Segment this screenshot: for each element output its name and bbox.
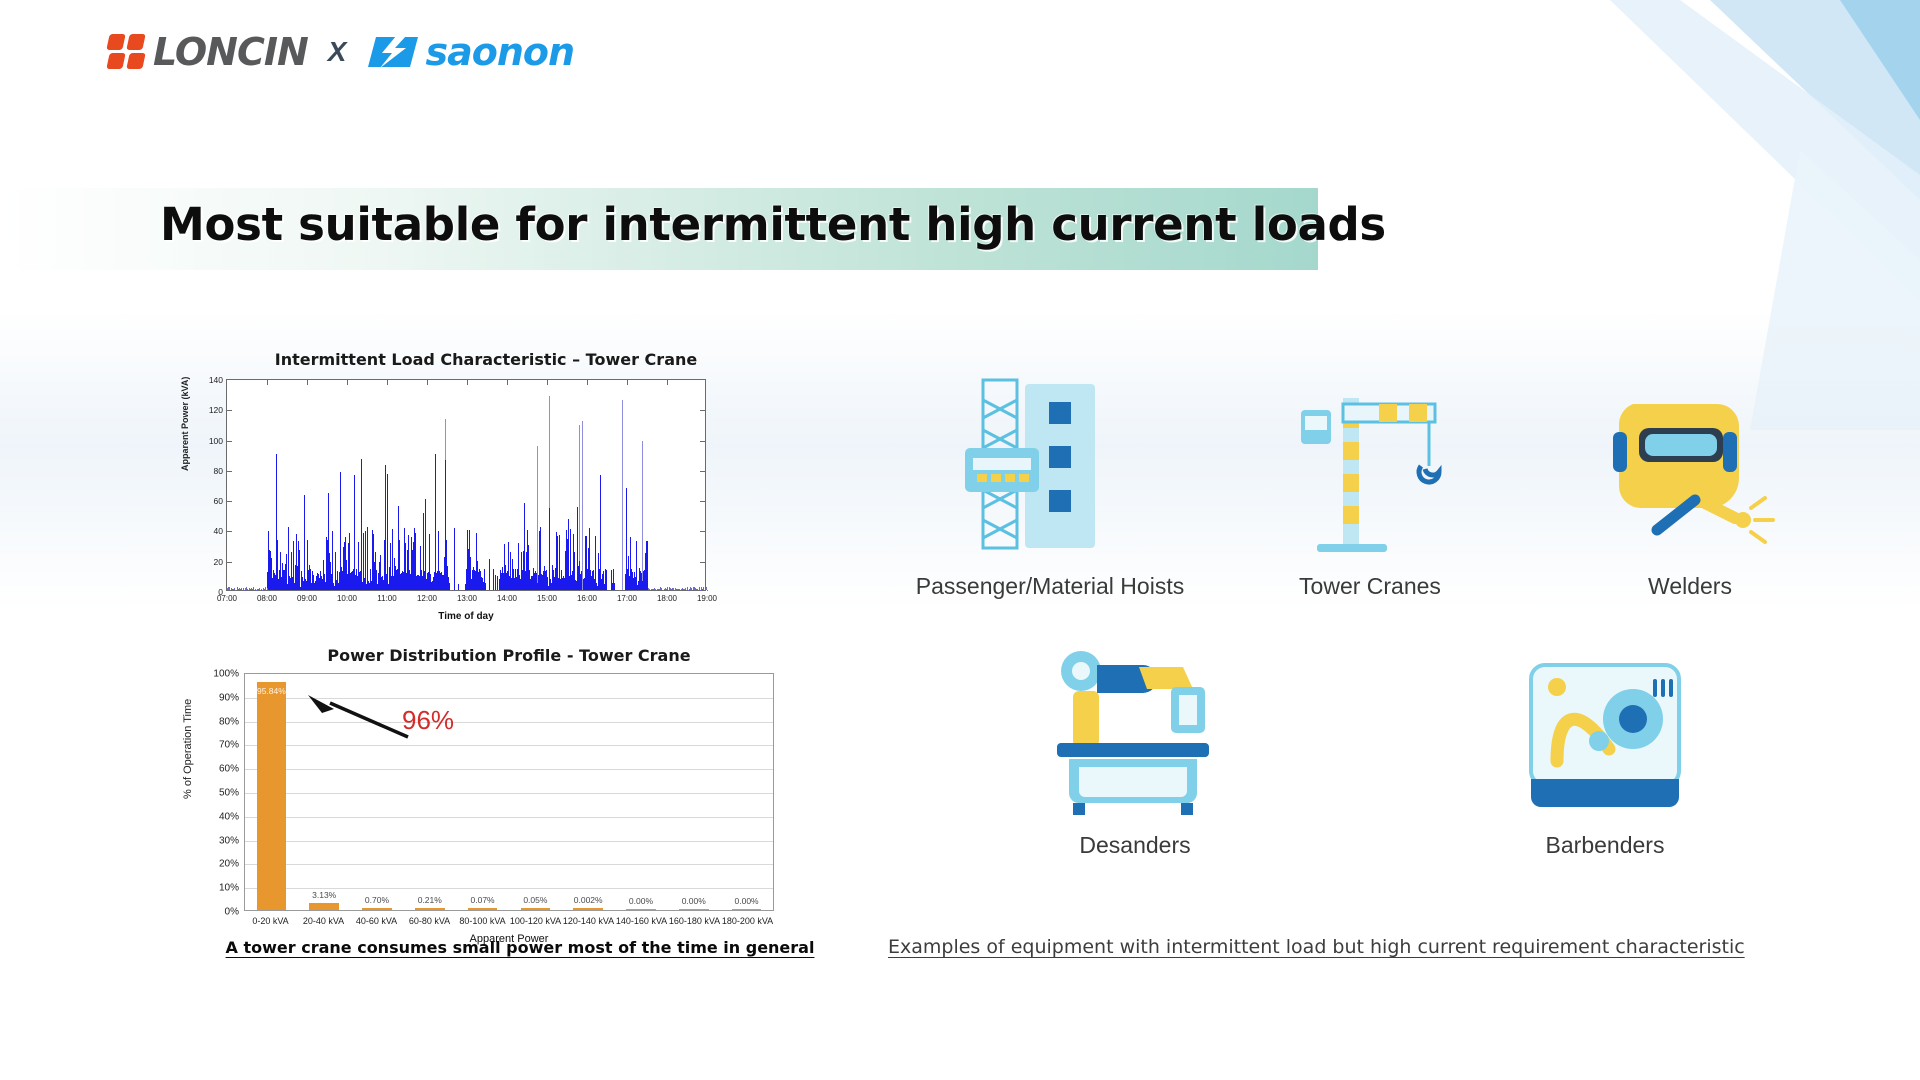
bar-chart-xtick: 180-200 kVA	[721, 916, 774, 927]
tick-mark	[227, 441, 232, 442]
bar-chart-ytick: 70%	[219, 740, 239, 751]
load-spike	[485, 583, 486, 590]
tick-mark	[627, 380, 628, 385]
equipment-label: Passenger/Material Hoists	[916, 573, 1184, 600]
bar	[257, 682, 287, 910]
tick-mark	[700, 531, 705, 532]
bar-chart-ytick: 10%	[219, 883, 239, 894]
load-spike	[606, 570, 607, 590]
equipment-row-2: Desanders Bar	[890, 628, 1850, 859]
bar	[679, 909, 709, 911]
tick-mark	[700, 441, 705, 442]
tick-mark	[227, 531, 232, 532]
bar-slot[interactable]: 0.00%	[720, 674, 773, 910]
page-title: Most suitable for intermittent high curr…	[160, 198, 1340, 251]
line-chart-ytick: 140	[209, 375, 223, 385]
tick-mark	[547, 380, 548, 385]
load-spike	[495, 575, 496, 590]
bar-slot[interactable]: 95.84%	[245, 674, 298, 910]
load-spike	[647, 541, 648, 590]
bar-chart-xtick: 40-60 kVA	[350, 916, 403, 927]
bar-chart-ytick: 0%	[225, 907, 239, 918]
load-spike	[549, 508, 550, 590]
bar-chart-ytick: 80%	[219, 716, 239, 727]
partnership-x-icon: X	[326, 36, 349, 68]
bar	[415, 908, 445, 910]
tick-mark	[587, 380, 588, 385]
brand-logo-bar: LONCIN X saonon	[108, 30, 574, 74]
bar-slot[interactable]: 0.05%	[509, 674, 562, 910]
callout-96-label: 96%	[402, 705, 454, 736]
bar-chart-ytick: 50%	[219, 788, 239, 799]
equipment-label: Desanders	[1079, 832, 1190, 859]
load-spike	[449, 583, 450, 590]
equipment-item-hoist[interactable]: Passenger/Material Hoists	[890, 365, 1210, 600]
tick-mark	[227, 562, 232, 563]
bar-chart-title: Power Distribution Profile - Tower Crane	[244, 646, 774, 665]
bar-value-label: 0.70%	[365, 895, 389, 905]
line-chart-ytick: 40	[214, 526, 223, 536]
bar-chart-category-labels: 0-20 kVA20-40 kVA40-60 kVA60-80 kVA80-10…	[244, 916, 774, 927]
load-spike	[497, 576, 498, 590]
bar-value-label: 0.07%	[471, 895, 495, 905]
load-spike	[642, 441, 643, 590]
equipment-item-welder[interactable]: Welders	[1530, 365, 1850, 600]
equipment-item-tower-crane[interactable]: Tower Cranes	[1210, 365, 1530, 600]
line-chart-plot-area: 02040608010012014007:0008:0009:0010:0011…	[226, 379, 706, 591]
tick-mark	[667, 380, 668, 385]
bar-value-label: 0.00%	[682, 896, 706, 906]
tick-mark	[507, 380, 508, 385]
bar-chart: Power Distribution Profile - Tower Crane…	[186, 646, 786, 945]
bar-chart-xtick: 80-100 kVA	[456, 916, 509, 927]
callout-arrow-icon	[304, 693, 414, 745]
bar-chart-ytick: 90%	[219, 692, 239, 703]
saonon-logo: saonon	[366, 30, 574, 74]
tick-mark	[700, 501, 705, 502]
bar-slot[interactable]: 0.002%	[562, 674, 615, 910]
line-chart-xtick: 15:00	[537, 594, 557, 603]
line-chart-xtick: 18:00	[657, 594, 677, 603]
line-chart-ylabel: Apparent Power (kVA)	[180, 377, 190, 471]
load-baseline	[267, 588, 268, 590]
line-chart-xtick: 12:00	[417, 594, 437, 603]
welder-icon	[1595, 365, 1785, 555]
hoist-icon	[963, 365, 1138, 555]
loncin-squares-icon	[108, 34, 148, 70]
line-chart-xtick: 07:00	[217, 594, 237, 603]
line-chart-xtick: 08:00	[257, 594, 277, 603]
line-chart-ytick: 60	[214, 496, 223, 506]
bar	[573, 908, 603, 910]
bar-value-label: 3.13%	[312, 890, 336, 900]
bar	[732, 909, 762, 911]
tick-mark	[347, 380, 348, 385]
bar-chart-ytick: 100%	[213, 669, 239, 680]
tick-mark	[700, 410, 705, 411]
line-chart-xtick: 09:00	[297, 594, 317, 603]
bar-chart-xtick: 120-140 kVA	[562, 916, 615, 927]
bar-chart-xtick: 140-160 kVA	[615, 916, 668, 927]
line-chart-ytick: 80	[214, 466, 223, 476]
loncin-wordmark: LONCIN	[153, 30, 308, 74]
tick-mark	[387, 380, 388, 385]
load-spike	[304, 495, 305, 590]
bar-value-label: 0.00%	[735, 896, 759, 906]
tick-mark	[467, 380, 468, 385]
tick-mark	[307, 380, 308, 385]
equipment-label: Barbenders	[1546, 832, 1665, 859]
bar-chart-ytick: 60%	[219, 764, 239, 775]
line-chart-xtick: 16:00	[577, 594, 597, 603]
line-chart-xtick: 17:00	[617, 594, 637, 603]
load-spike	[614, 583, 615, 590]
bar	[468, 908, 498, 910]
equipment-row-1: Passenger/Material Hoists	[890, 365, 1850, 600]
bar-chart-ytick: 20%	[219, 859, 239, 870]
line-chart-ytick: 100	[209, 436, 223, 446]
saonon-bolt-icon	[366, 35, 422, 69]
barbender-icon	[1513, 628, 1698, 818]
bar-chart-ytick: 30%	[219, 835, 239, 846]
line-chart-xtick: 19:00	[697, 594, 717, 603]
bar-value-label: 95.84%	[257, 686, 286, 696]
load-spike	[582, 421, 583, 590]
equipment-item-barbender[interactable]: Barbenders	[1455, 628, 1755, 859]
bar-chart-xtick: 160-180 kVA	[668, 916, 721, 927]
equipment-label: Tower Cranes	[1299, 573, 1441, 600]
load-spike	[425, 499, 426, 590]
bar-value-label: 0.002%	[574, 895, 603, 905]
equipment-label: Welders	[1648, 573, 1732, 600]
load-spike	[361, 459, 362, 591]
line-chart-ytick: 120	[209, 405, 223, 415]
load-spike	[537, 446, 538, 590]
tick-mark	[227, 501, 232, 502]
line-chart-xtick: 13:00	[457, 594, 477, 603]
bar-chart-xtick: 100-120 kVA	[509, 916, 562, 927]
equipment-column: Passenger/Material Hoists	[890, 365, 1850, 859]
bar-chart-xtick: 0-20 kVA	[244, 916, 297, 927]
tick-mark	[700, 562, 705, 563]
charts-column: Intermittent Load Characteristic – Tower…	[186, 350, 786, 945]
bar-slot[interactable]: 0.00%	[615, 674, 668, 910]
bar-slot[interactable]: 0.00%	[667, 674, 720, 910]
left-caption: A tower crane consumes small power most …	[160, 938, 880, 957]
load-spike	[493, 569, 494, 590]
load-spike	[454, 528, 455, 590]
load-spike	[622, 400, 623, 590]
bar-chart-ylabel: % of Operation Time	[182, 699, 194, 799]
bar	[362, 908, 392, 910]
line-chart-xtick: 11:00	[377, 594, 396, 603]
equipment-item-desander[interactable]: Desanders	[985, 628, 1285, 859]
bar-value-label: 0.00%	[629, 896, 653, 906]
load-spike	[385, 465, 386, 590]
bar-chart-xtick: 60-80 kVA	[403, 916, 456, 927]
line-chart-ytick: 20	[214, 557, 223, 567]
line-chart: Apparent Power (kVA) 0204060801001201400…	[186, 379, 708, 622]
bar-slot[interactable]: 0.07%	[456, 674, 509, 910]
line-chart-xtick: 14:00	[497, 594, 517, 603]
tower-crane-icon	[1283, 365, 1458, 555]
bar	[309, 903, 339, 910]
right-caption: Examples of equipment with intermittent …	[888, 936, 1818, 958]
tick-mark	[227, 471, 232, 472]
line-chart-title: Intermittent Load Characteristic – Tower…	[186, 350, 786, 369]
tick-mark	[227, 410, 232, 411]
bar	[626, 909, 656, 911]
bar	[521, 908, 551, 910]
tick-mark	[427, 380, 428, 385]
saonon-wordmark: saonon	[425, 30, 574, 74]
loncin-logo: LONCIN	[108, 30, 308, 74]
desander-icon	[1043, 628, 1228, 818]
load-spike	[600, 475, 601, 590]
load-spike	[332, 536, 333, 590]
bar-chart-ytick: 40%	[219, 811, 239, 822]
line-chart-xtick: 10:00	[337, 594, 357, 603]
bar-value-label: 0.21%	[418, 895, 442, 905]
tick-mark	[267, 380, 268, 385]
tick-mark	[700, 471, 705, 472]
load-spike	[489, 583, 490, 590]
load-spike	[458, 584, 459, 590]
bar-chart-xtick: 20-40 kVA	[297, 916, 350, 927]
line-chart-xlabel: Time of day	[226, 611, 706, 622]
bar-value-label: 0.05%	[523, 895, 547, 905]
